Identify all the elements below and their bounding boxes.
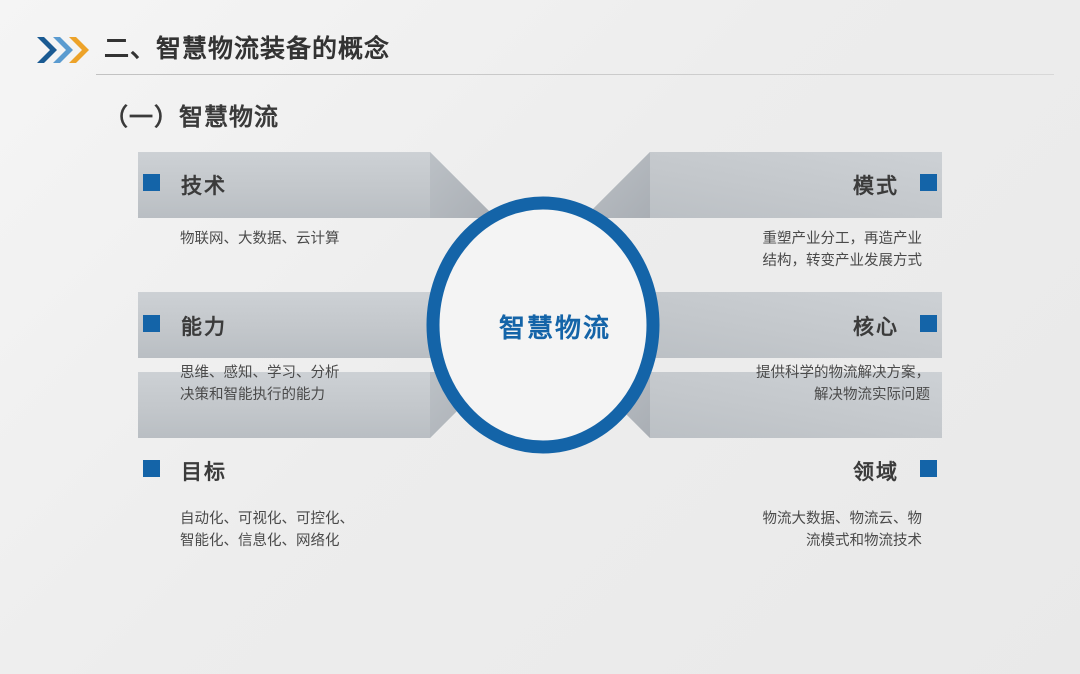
slide-header: 二、智慧物流装备的概念 — [0, 0, 1080, 86]
bar-desc-right-3: 物流大数据、物流云、物 流模式和物流技术 — [763, 508, 923, 552]
bar-desc-line: 重塑产业分工，再造产业 — [763, 228, 923, 250]
bar-title-left-2: 能力 — [181, 311, 227, 341]
bar-title-left-3: 目标 — [181, 456, 227, 486]
bar-title-right-2: 核心 — [853, 311, 899, 341]
chevron-right-orange-icon — [68, 36, 90, 64]
bar-desc-line: 物流大数据、物流云、物 — [763, 508, 923, 530]
bar-desc-right-2: 提供科学的物流解决方案， 解决物流实际问题 — [756, 362, 930, 406]
bullet-marker-right-2 — [920, 315, 937, 332]
bar-desc-right-1: 重塑产业分工，再造产业 结构，转变产业发展方式 — [763, 228, 923, 272]
diagram-shapes — [0, 140, 1080, 570]
bar-desc-left-1: 物联网、大数据、云计算 — [180, 228, 340, 250]
header-divider — [96, 74, 1054, 75]
bar-desc-line: 决策和智能执行的能力 — [180, 384, 340, 406]
bar-title-right-3: 领域 — [853, 456, 899, 486]
bar-title-left-1: 技术 — [181, 170, 227, 200]
bullet-marker-right-3 — [920, 460, 937, 477]
bar-desc-line: 智能化、信息化、网络化 — [180, 530, 354, 552]
bar-desc-line: 自动化、可视化、可控化、 — [180, 508, 354, 530]
section-subtitle: （一）智慧物流 — [104, 97, 279, 132]
bar-desc-line: 思维、感知、学习、分析 — [180, 362, 340, 384]
chevron-group — [36, 36, 98, 64]
concept-diagram: 技术 物联网、大数据、云计算 能力 思维、感知、学习、分析 决策和智能执行的能力… — [0, 140, 1080, 570]
bar-desc-left-3: 自动化、可视化、可控化、 智能化、信息化、网络化 — [180, 508, 354, 552]
bar-desc-line: 提供科学的物流解决方案， — [756, 362, 930, 384]
center-circle-label: 智慧物流 — [455, 308, 655, 345]
bullet-marker-left-1 — [143, 174, 160, 191]
slide-canvas: 二、智慧物流装备的概念 （一）智慧物流 — [0, 0, 1080, 674]
bullet-marker-left-2 — [143, 315, 160, 332]
bar-title-right-1: 模式 — [853, 170, 899, 200]
bar-desc-left-2: 思维、感知、学习、分析 决策和智能执行的能力 — [180, 362, 340, 406]
bar-desc-line: 解决物流实际问题 — [756, 384, 930, 406]
bar-desc-line: 结构，转变产业发展方式 — [763, 250, 923, 272]
page-title: 二、智慧物流装备的概念 — [104, 29, 390, 65]
bullet-marker-left-3 — [143, 460, 160, 477]
bullet-marker-right-1 — [920, 174, 937, 191]
bar-desc-line: 流模式和物流技术 — [763, 530, 923, 552]
